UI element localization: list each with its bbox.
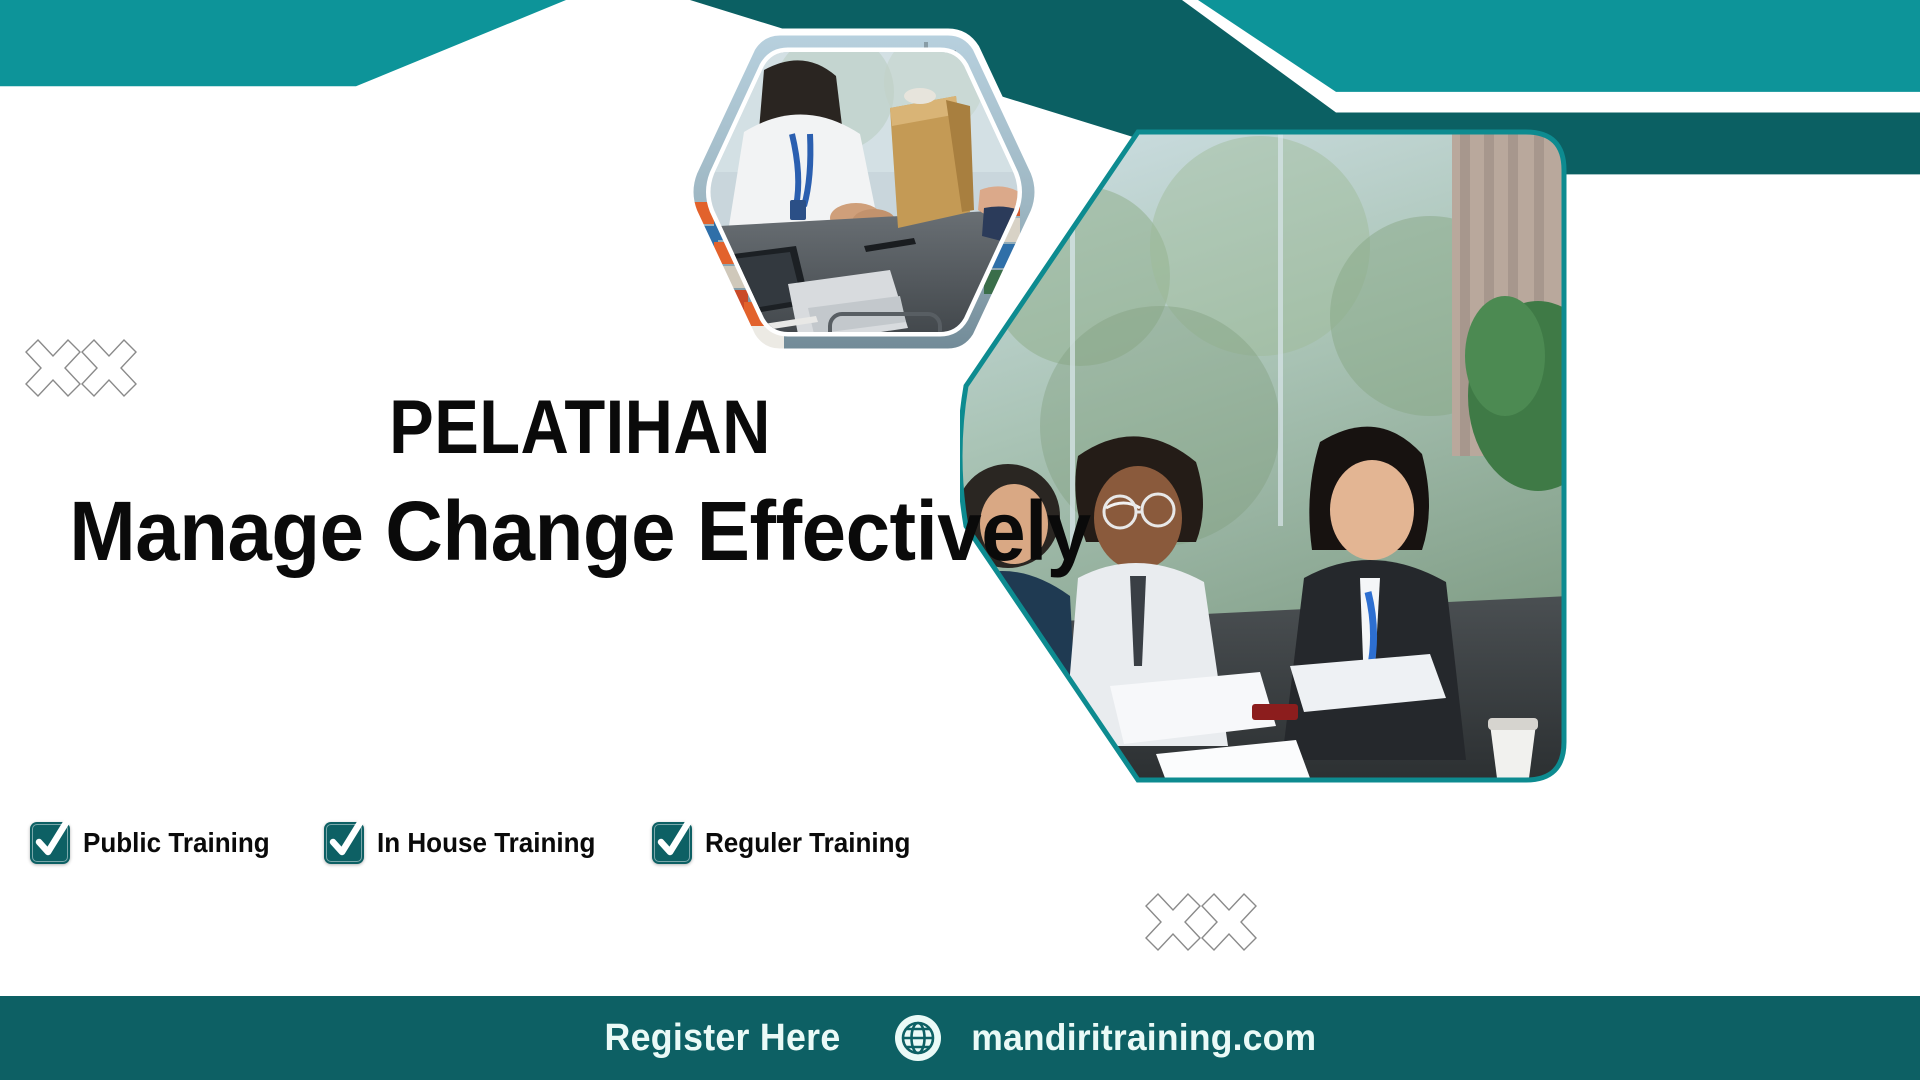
- x-motif-pair-bottom: [1142, 888, 1258, 968]
- hex-photo-meeting-box: [684, 22, 1044, 362]
- title-block: PELATIHAN Manage Change Effectively: [0, 390, 1160, 578]
- training-poster: PELATIHAN Manage Change Effectively Publ…: [0, 0, 1920, 1080]
- training-type-item[interactable]: Reguler Training: [652, 822, 926, 864]
- training-type-label: Reguler Training: [705, 827, 910, 859]
- checkmark-icon[interactable]: [652, 822, 692, 864]
- training-type-item[interactable]: In House Training: [324, 822, 612, 864]
- website-link[interactable]: mandiritraining.com: [894, 1014, 1323, 1062]
- checkmark-icon[interactable]: [30, 822, 70, 864]
- training-type-label: Public Training: [83, 827, 270, 859]
- page-kicker: PELATIHAN: [70, 390, 1091, 466]
- checkmark-icon[interactable]: [324, 822, 364, 864]
- page-title: Manage Change Effectively: [29, 484, 1131, 578]
- globe-icon: [894, 1014, 942, 1062]
- training-type-list: Public Training In House Training Regule…: [30, 822, 926, 864]
- website-url: mandiritraining.com: [971, 1017, 1316, 1059]
- register-here-label[interactable]: Register Here: [604, 1017, 840, 1060]
- training-type-label: In House Training: [377, 827, 595, 859]
- footer-bar: Register Here mandiritraining.com: [0, 996, 1920, 1080]
- training-type-item[interactable]: Public Training: [30, 822, 284, 864]
